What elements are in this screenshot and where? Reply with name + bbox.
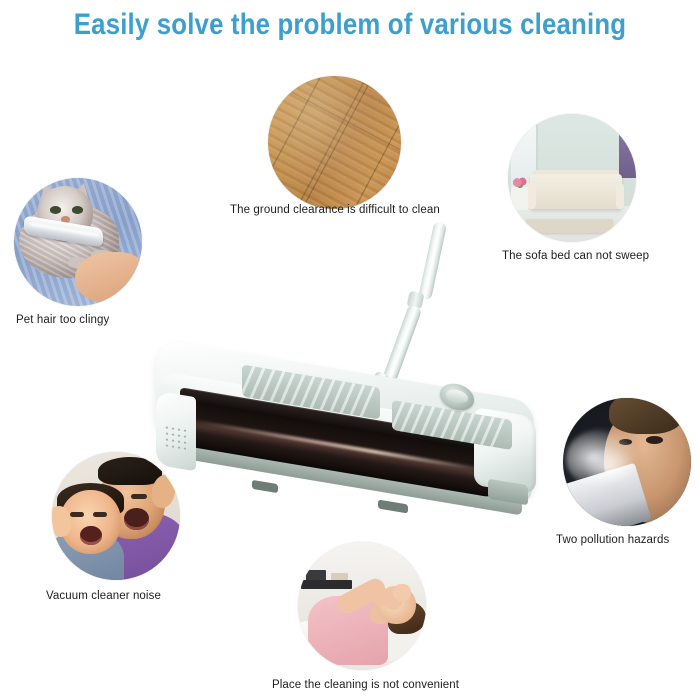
child-mouth-shouting [80, 526, 102, 545]
flower-vase [513, 177, 527, 189]
sweeper-texture-dots [164, 424, 186, 450]
page-title: Easily solve the problem of various clea… [49, 8, 651, 42]
dust-cloud [583, 447, 634, 485]
room-curtain [619, 119, 636, 178]
sweeper-bumper-slot [378, 499, 408, 513]
problem-card-ground-clearance [268, 76, 401, 209]
sofa-armrest-right [616, 183, 625, 209]
human-hand [75, 252, 142, 303]
cat-with-lint-roller-photo [14, 178, 142, 306]
man-eye [131, 494, 146, 499]
caption-noise: Vacuum cleaner noise [46, 590, 161, 602]
sweeper-deck [156, 370, 534, 498]
woman-eye [646, 436, 663, 444]
cat-eye-left [50, 206, 62, 214]
cat-scene [14, 178, 142, 306]
woman-blowing-dust-photo [563, 398, 691, 526]
sofa-seat [530, 174, 622, 209]
tired-woman-scene [298, 542, 426, 670]
electric-floor-sweeper [150, 222, 540, 512]
sweeper-handle-upper [418, 221, 447, 300]
cat-eye-right [72, 206, 84, 214]
caption-pet-hair: Pet hair too clingy [16, 314, 109, 326]
caption-inconvenient: Place the cleaning is not convenient [272, 679, 459, 691]
child-eye [93, 512, 107, 516]
infographic-canvas: Easily solve the problem of various clea… [0, 0, 700, 700]
dust-scene [563, 398, 691, 526]
wood-plank-texture [268, 76, 401, 209]
sweeper-bumper-slot [252, 480, 278, 493]
wooden-floor-photo [268, 76, 401, 209]
dark-shelf [301, 580, 352, 589]
problem-card-pet-hair [14, 178, 142, 306]
sofa-armrest-left [527, 183, 536, 209]
woman-hand-on-forehead [393, 584, 411, 601]
problem-card-inconvenient [298, 542, 426, 670]
problem-card-pollution [563, 398, 691, 526]
tired-woman-on-sofa-photo [298, 542, 426, 670]
child-eye [70, 512, 84, 516]
caption-pollution: Two pollution hazards [556, 534, 669, 546]
woman-hair [609, 398, 683, 434]
caption-ground-clearance: The ground clearance is difficult to cle… [230, 204, 440, 216]
side-table [511, 187, 529, 210]
man-mouth-shouting [124, 508, 150, 530]
